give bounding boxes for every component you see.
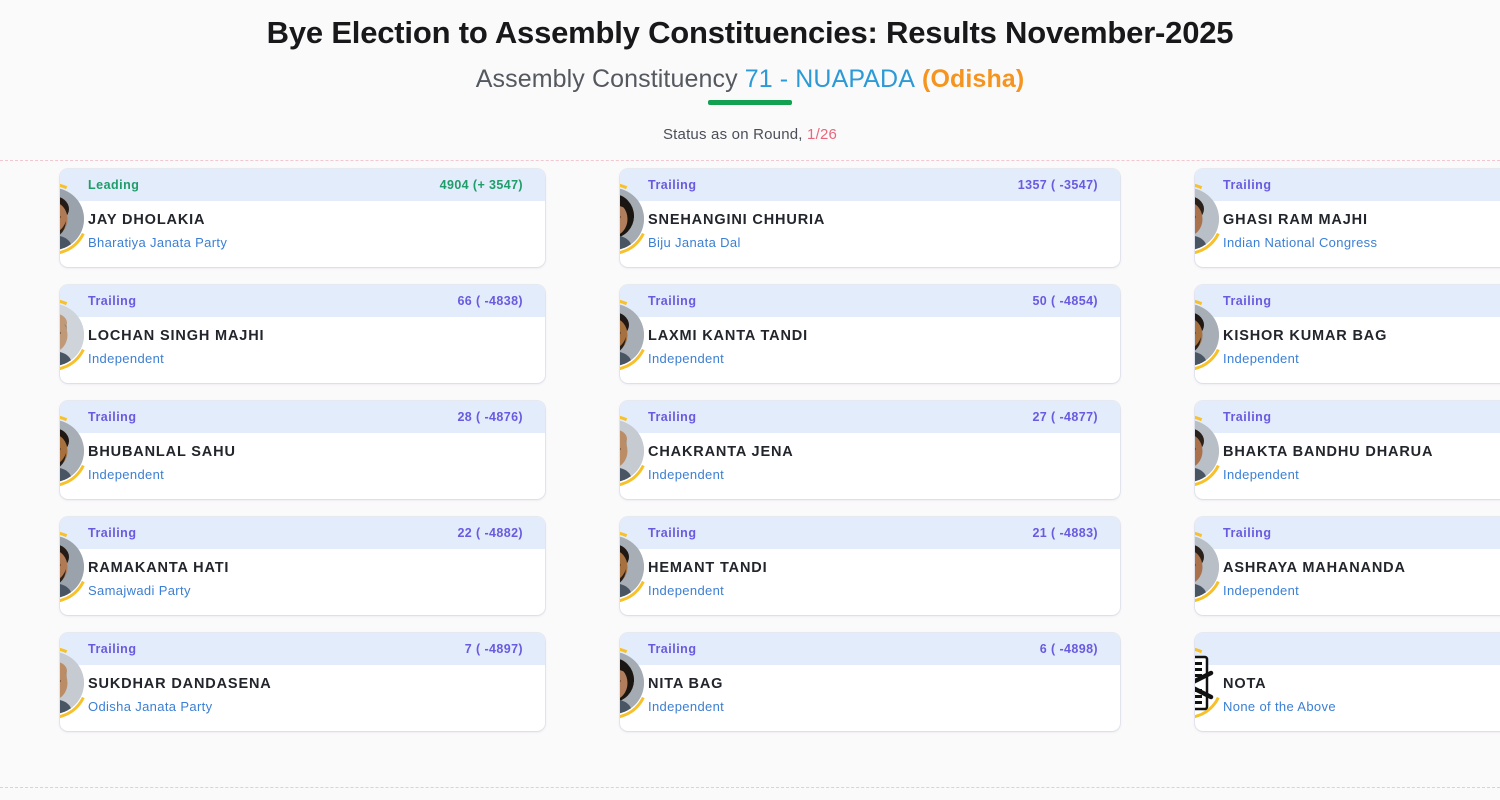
status-badge: Trailing [648,410,696,424]
avatar [60,183,88,255]
candidate-name: GHASI RAM MAJHI [1223,212,1500,228]
page-header: Bye Election to Assembly Constituencies:… [0,0,1500,94]
ac-number: 71 [745,65,773,93]
card-body: GHASI RAM MAJHI Indian National Congress [1195,201,1500,250]
candidate-party: Bharatiya Janata Party [88,235,545,250]
candidate-card[interactable]: Trailing 1357 ( -3547) SNEHANGINI CHHURI… [620,169,1120,267]
candidate-party: None of the Above [1223,699,1500,714]
avatar [60,415,88,487]
vote-figure: 66 ( -4838) [457,294,523,308]
state-name: (Odisha) [922,65,1024,93]
candidate-card[interactable]: Trailing 7 ( -4897) SUKDHAR DANDASENA Od… [60,633,545,731]
candidate-card[interactable]: Trailing KISHOR KUMAR BAG Independent [1195,285,1500,383]
candidate-name: ASHRAYA MAHANANDA [1223,560,1500,576]
card-status-bar: Trailing [1195,517,1500,549]
top-divider [0,160,1500,161]
candidate-name: LAXMI KANTA TANDI [648,328,1120,344]
vote-figure: 22 ( -4882) [457,526,523,540]
card-status-bar: Trailing [1195,401,1500,433]
candidate-name: KISHOR KUMAR BAG [1223,328,1500,344]
card-status-bar: Trailing 1357 ( -3547) [620,169,1120,201]
candidate-party: Independent [1223,351,1500,366]
candidate-party: Independent [648,699,1120,714]
status-row: Status as on Round, 1/26 [0,126,1500,144]
card-status-bar: Trailing [1195,285,1500,317]
candidate-party: Odisha Janata Party [88,699,545,714]
vote-figure: 50 ( -4854) [1032,294,1098,308]
page-title: Bye Election to Assembly Constituencies:… [0,14,1500,51]
avatar [620,415,648,487]
candidate-name: NITA BAG [648,676,1120,692]
candidate-card[interactable]: NOTA None of the Above [1195,633,1500,731]
card-body: CHAKRANTA JENA Independent [620,433,1120,482]
candidate-party: Biju Janata Dal [648,235,1120,250]
candidate-name: SUKDHAR DANDASENA [88,676,545,692]
vote-figure: 27 ( -4877) [1032,410,1098,424]
candidate-name: NOTA [1223,676,1500,692]
candidate-party: Independent [88,351,545,366]
vote-figure: 28 ( -4876) [457,410,523,424]
candidate-party: Independent [1223,583,1500,598]
card-status-bar: Trailing 22 ( -4882) [60,517,545,549]
card-body: HEMANT TANDI Independent [620,549,1120,598]
avatar [1195,299,1223,371]
candidate-party: Independent [648,467,1120,482]
candidate-card[interactable]: Trailing 28 ( -4876) BHUBANLAL SAHU Inde… [60,401,545,499]
candidate-card[interactable]: Trailing 50 ( -4854) LAXMI KANTA TANDI I… [620,285,1120,383]
card-status-bar: Trailing 66 ( -4838) [60,285,545,317]
nota-ballot-icon [1195,651,1219,715]
candidate-cell: Trailing 28 ( -4876) BHUBANLAL SAHU Inde… [0,401,545,517]
constituency-subtitle: Assembly Constituency 71 - NUAPADA (Odis… [476,65,1025,94]
status-badge: Trailing [648,526,696,540]
card-status-bar: Trailing 6 ( -4898) [620,633,1120,665]
results-page: Bye Election to Assembly Constituencies:… [0,0,1500,800]
candidate-name: LOCHAN SINGH MAJHI [88,328,545,344]
candidate-grid: Leading 4904 (+ 3547) JAY DHOLAKIA Bhara… [0,169,1500,749]
candidate-card[interactable]: Trailing 27 ( -4877) CHAKRANTA JENA Inde… [620,401,1120,499]
candidate-cell: NOTA None of the Above [1135,633,1500,749]
title-underline-accent [708,100,792,105]
avatar [1195,415,1223,487]
card-body: ASHRAYA MAHANANDA Independent [1195,549,1500,598]
status-badge: Trailing [88,410,136,424]
candidate-name: BHUBANLAL SAHU [88,444,545,460]
candidate-card[interactable]: Trailing ASHRAYA MAHANANDA Independent [1195,517,1500,615]
candidate-cell: Trailing KISHOR KUMAR BAG Independent [1135,285,1500,401]
candidate-cell: Trailing 7 ( -4897) SUKDHAR DANDASENA Od… [0,633,545,749]
avatar [60,647,88,719]
candidate-card[interactable]: Trailing 21 ( -4883) HEMANT TANDI Indepe… [620,517,1120,615]
status-as-on-round: Status as on Round, 1/26 [663,126,837,143]
status-badge: Trailing [88,526,136,540]
candidate-cell: Trailing 21 ( -4883) HEMANT TANDI Indepe… [560,517,1120,633]
ac-name: NUAPADA [795,65,915,93]
candidate-cell: Leading 4904 (+ 3547) JAY DHOLAKIA Bhara… [0,169,545,285]
avatar [620,531,648,603]
candidate-card[interactable]: Leading 4904 (+ 3547) JAY DHOLAKIA Bhara… [60,169,545,267]
card-status-bar: Trailing 21 ( -4883) [620,517,1120,549]
status-badge: Trailing [1223,526,1271,540]
subtitle-prefix: Assembly Constituency [476,65,745,93]
card-body: RAMAKANTA HATI Samajwadi Party [60,549,545,598]
avatar [1195,183,1223,255]
status-badge: Trailing [88,642,136,656]
ac-dash: - [773,65,796,93]
candidate-name: JAY DHOLAKIA [88,212,545,228]
candidate-cell: Trailing GHASI RAM MAJHI Indian National… [1135,169,1500,285]
card-body: SUKDHAR DANDASENA Odisha Janata Party [60,665,545,714]
card-body: JAY DHOLAKIA Bharatiya Janata Party [60,201,545,250]
status-badge: Trailing [648,178,696,192]
vote-figure: 1357 ( -3547) [1018,178,1098,192]
status-badge: Trailing [648,294,696,308]
card-body: BHAKTA BANDHU DHARUA Independent [1195,433,1500,482]
candidate-cell: Trailing 50 ( -4854) LAXMI KANTA TANDI I… [560,285,1120,401]
status-badge: Leading [88,178,139,192]
vote-figure: 4904 (+ 3547) [440,178,523,192]
candidate-name: BHAKTA BANDHU DHARUA [1223,444,1500,460]
bottom-divider [0,787,1500,788]
avatar [620,299,648,371]
avatar [1195,647,1223,719]
avatar [1195,531,1223,603]
candidate-cell: Trailing 27 ( -4877) CHAKRANTA JENA Inde… [560,401,1120,517]
candidate-party: Indian National Congress [1223,235,1500,250]
candidate-party: Independent [88,467,545,482]
candidate-cell: Trailing 6 ( -4898) NITA BAG Independent [560,633,1120,749]
candidate-card[interactable]: Trailing BHAKTA BANDHU DHARUA Independen… [1195,401,1500,499]
candidate-name: HEMANT TANDI [648,560,1120,576]
card-body: KISHOR KUMAR BAG Independent [1195,317,1500,366]
status-badge: Trailing [88,294,136,308]
card-status-bar: Trailing 27 ( -4877) [620,401,1120,433]
avatar [60,299,88,371]
avatar [60,531,88,603]
card-body: NITA BAG Independent [620,665,1120,714]
candidate-cell: Trailing 66 ( -4838) LOCHAN SINGH MAJHI … [0,285,545,401]
card-status-bar: Trailing [1195,169,1500,201]
candidate-party: Independent [1223,467,1500,482]
candidate-card[interactable]: Trailing 66 ( -4838) LOCHAN SINGH MAJHI … [60,285,545,383]
candidate-party: Independent [648,583,1120,598]
card-body: NOTA None of the Above [1195,665,1500,714]
round-value: 1/26 [807,126,837,143]
avatar [620,183,648,255]
candidate-cell: Trailing 1357 ( -3547) SNEHANGINI CHHURI… [560,169,1120,285]
status-badge: Trailing [1223,294,1271,308]
status-badge: Trailing [1223,410,1271,424]
card-body: LOCHAN SINGH MAJHI Independent [60,317,545,366]
card-status-bar: Trailing 50 ( -4854) [620,285,1120,317]
candidate-card[interactable]: Trailing 6 ( -4898) NITA BAG Independent [620,633,1120,731]
card-status-bar: Trailing 7 ( -4897) [60,633,545,665]
candidate-card[interactable]: Trailing 22 ( -4882) RAMAKANTA HATI Sama… [60,517,545,615]
status-badge: Trailing [1223,178,1271,192]
card-status-bar [1195,633,1500,665]
candidate-name: CHAKRANTA JENA [648,444,1120,460]
card-body: BHUBANLAL SAHU Independent [60,433,545,482]
candidate-name: SNEHANGINI CHHURIA [648,212,1120,228]
candidate-cell: Trailing ASHRAYA MAHANANDA Independent [1135,517,1500,633]
vote-figure: 21 ( -4883) [1032,526,1098,540]
candidate-card[interactable]: Trailing GHASI RAM MAJHI Indian National… [1195,169,1500,267]
vote-figure: 7 ( -4897) [465,642,523,656]
card-status-bar: Trailing 28 ( -4876) [60,401,545,433]
candidate-cell: Trailing 22 ( -4882) RAMAKANTA HATI Sama… [0,517,545,633]
card-status-bar: Leading 4904 (+ 3547) [60,169,545,201]
card-body: SNEHANGINI CHHURIA Biju Janata Dal [620,201,1120,250]
status-badge: Trailing [648,642,696,656]
candidate-cell: Trailing BHAKTA BANDHU DHARUA Independen… [1135,401,1500,517]
card-body: LAXMI KANTA TANDI Independent [620,317,1120,366]
vote-figure: 6 ( -4898) [1040,642,1098,656]
candidate-name: RAMAKANTA HATI [88,560,545,576]
candidate-party: Independent [648,351,1120,366]
status-prefix: Status as on Round, [663,126,807,143]
avatar [620,647,648,719]
candidate-party: Samajwadi Party [88,583,545,598]
